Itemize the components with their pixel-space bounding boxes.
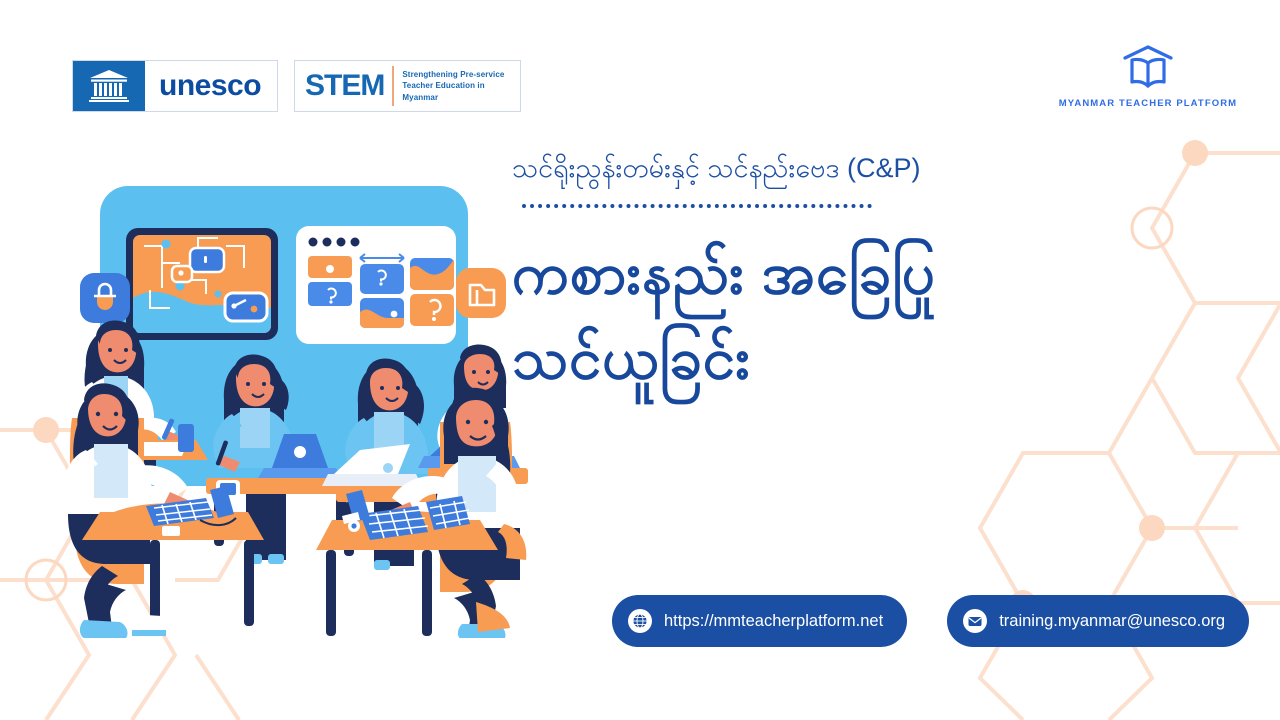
stem-divider xyxy=(392,66,394,106)
envelope-icon xyxy=(963,609,987,633)
myanmar-teacher-platform-logo: MYANMAR TEACHER PLATFORM xyxy=(1058,44,1238,109)
website-label: https://mmteacherplatform.net xyxy=(664,612,883,631)
globe-icon xyxy=(628,609,652,633)
unesco-temple-icon xyxy=(73,61,145,111)
stem-wordmark: STEM xyxy=(305,71,392,101)
contact-pills: https://mmteacherplatform.net training.m… xyxy=(612,595,1249,647)
platform-label: MYANMAR TEACHER PLATFORM xyxy=(1059,98,1237,109)
unesco-wordmark: unesco xyxy=(145,61,277,111)
page-title: ကစားနည်း အခြေပြု သင်ယူခြင်း xyxy=(512,232,1152,400)
globe-glyph xyxy=(632,613,648,629)
presentation-screen xyxy=(126,228,278,340)
open-book-house-icon xyxy=(1121,44,1175,90)
unesco-logo: unesco xyxy=(72,60,278,112)
temple-glyph xyxy=(87,69,131,103)
partner-logos: unesco STEM Strengthening Pre-service Te… xyxy=(72,60,521,112)
page-title-line2: သင်ယူခြင်း xyxy=(512,317,1152,401)
folder-badge xyxy=(456,268,506,318)
title-block: သင်ရိုးညွန်းတမ်းနှင့် သင်နည်းဗေဒ (C&P) က… xyxy=(512,150,1152,401)
website-pill[interactable]: https://mmteacherplatform.net xyxy=(612,595,907,647)
students-in-classroom-with-laptops-illustration xyxy=(58,168,528,638)
stem-tagline: Strengthening Pre-service Teacher Educat… xyxy=(402,69,512,104)
stem-logo: STEM Strengthening Pre-service Teacher E… xyxy=(294,60,521,112)
email-label: training.myanmar@unesco.org xyxy=(999,612,1225,631)
classroom-illustration-svg xyxy=(58,168,528,638)
lock-bag-badge xyxy=(80,273,130,323)
page-title-line1: ကစားနည်း အခြေပြု xyxy=(512,241,936,306)
email-pill[interactable]: training.myanmar@unesco.org xyxy=(947,595,1249,647)
dotted-divider xyxy=(522,204,872,208)
tile-grid-card xyxy=(296,226,456,344)
envelope-glyph xyxy=(967,613,983,629)
course-subtitle: သင်ရိုးညွန်းတမ်းနှင့် သင်နည်းဗေဒ (C&P) xyxy=(512,150,1152,186)
